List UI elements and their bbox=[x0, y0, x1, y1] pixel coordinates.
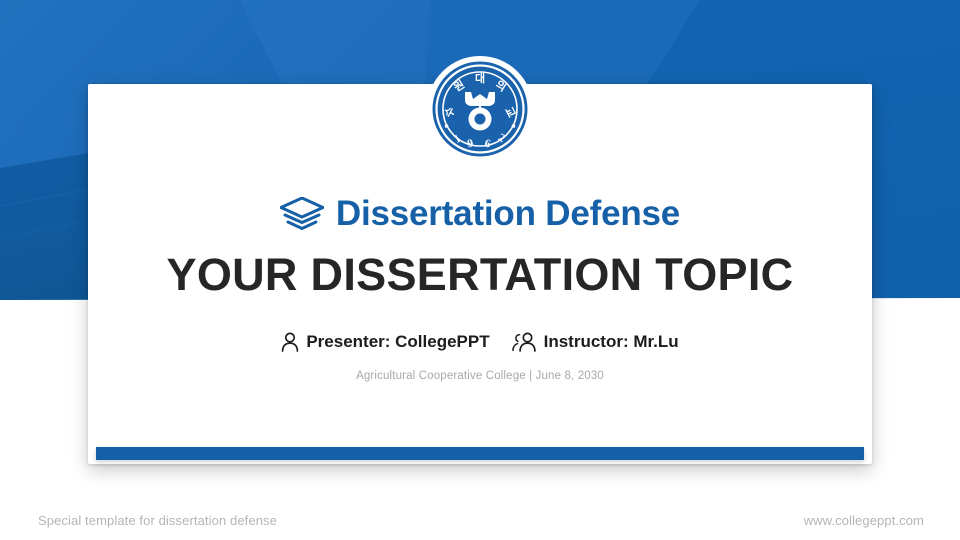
svg-text:대: 대 bbox=[475, 71, 485, 85]
instructor-item: Instructor: Mr.Lu bbox=[512, 332, 679, 352]
footer-left-text: Special template for dissertation defens… bbox=[38, 513, 277, 528]
presenter-label: Presenter: CollegePPT bbox=[306, 332, 489, 352]
subject-label: Dissertation Defense bbox=[336, 196, 680, 231]
person-icon bbox=[281, 332, 299, 352]
people-row: Presenter: CollegePPT Instructor: Mr.Lu bbox=[281, 332, 678, 352]
footer-right-text: www.collegeppt.com bbox=[804, 513, 924, 528]
presenter-item: Presenter: CollegePPT bbox=[281, 332, 489, 352]
card-accent-bar bbox=[96, 447, 864, 460]
people-group-icon bbox=[512, 332, 537, 352]
page-title: YOUR DISSERTATION TOPIC bbox=[167, 251, 794, 298]
meta-line: Agricultural Cooperative College | June … bbox=[356, 370, 604, 382]
subject-row: Dissertation Defense bbox=[280, 196, 680, 231]
title-slide: 수 원 대 의 교 1 9 6 2 bbox=[0, 0, 960, 540]
graduation-cap-icon bbox=[280, 197, 324, 231]
instructor-label: Instructor: Mr.Lu bbox=[544, 332, 679, 352]
university-seal-icon: 수 원 대 의 교 1 9 6 2 bbox=[427, 56, 533, 162]
